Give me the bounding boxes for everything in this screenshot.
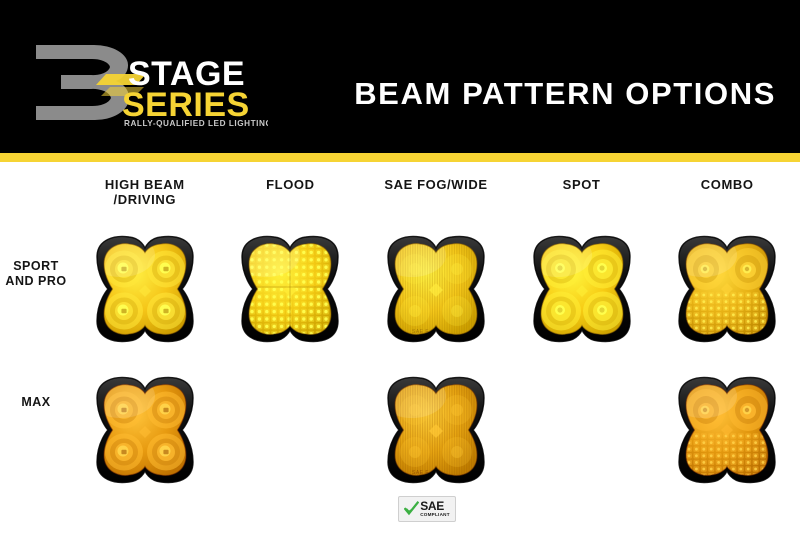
stage-series-logo: STAGE SERIES RALLY-QUALIFIED LED LIGHTIN…	[28, 33, 268, 128]
lens-driving	[91, 229, 199, 349]
column-header-line2: /DRIVING	[72, 192, 218, 207]
column-header-line1: COMBO	[654, 177, 800, 192]
row-label-max: MAX	[0, 395, 72, 410]
lens-cell-max-spot-empty	[509, 361, 655, 498]
lens-cell-max-combo[interactable]	[654, 361, 800, 498]
column-header-line1: FLOOD	[218, 177, 364, 192]
column-header-spot: SPOT	[509, 174, 655, 220]
lens-flood	[236, 229, 344, 349]
lens-grid: SAE F 19	[72, 220, 800, 520]
beam-pattern-options-page: STAGE SERIES RALLY-QUALIFIED LED LIGHTIN…	[0, 0, 800, 533]
lens-combo	[673, 229, 781, 349]
column-header-flood: FLOOD	[218, 174, 364, 220]
lens-spot	[528, 229, 636, 349]
lens-cell-max-high-beam-driving[interactable]	[72, 361, 218, 498]
lens-cell-sport-flood[interactable]	[218, 220, 364, 357]
row-label-line1: SPORT	[13, 259, 59, 273]
lens-sae-fog: SAE F 19	[382, 370, 490, 490]
column-header-row: HIGH BEAM /DRIVING FLOOD SAE FOG/WIDE SP…	[72, 174, 800, 220]
lens-cell-max-sae-fog-wide[interactable]: SAE F 19	[363, 361, 509, 498]
accent-divider-bar	[0, 153, 800, 162]
column-header-sae-fog-wide: SAE FOG/WIDE	[363, 174, 509, 220]
lens-sae-fog: SAE F 19	[382, 229, 490, 349]
lens-combo	[673, 370, 781, 490]
column-header-combo: COMBO	[654, 174, 800, 220]
lens-cell-sport-combo[interactable]	[654, 220, 800, 357]
sae-badge-subtitle: COMPLIANT	[420, 513, 450, 518]
comparison-board: HIGH BEAM /DRIVING FLOOD SAE FOG/WIDE SP…	[0, 162, 800, 533]
column-header-high-beam-driving: HIGH BEAM /DRIVING	[72, 174, 218, 220]
column-header-line1: HIGH BEAM	[72, 177, 218, 192]
lens-row-sport-and-pro: SAE F 19	[72, 220, 800, 357]
row-label-line1: MAX	[21, 395, 50, 409]
green-check-icon	[404, 501, 419, 517]
header-bar: STAGE SERIES RALLY-QUALIFIED LED LIGHTIN…	[0, 0, 800, 153]
page-title: BEAM PATTERN OPTIONS	[354, 76, 776, 112]
lens-cell-sport-spot[interactable]	[509, 220, 655, 357]
row-label-sport-and-pro: SPORT AND PRO	[0, 259, 72, 289]
sae-badge-title: SAE	[420, 500, 444, 512]
sae-compliant-badge: SAE COMPLIANT	[398, 496, 456, 522]
lens-row-max: SAE F 19	[72, 361, 800, 498]
lens-driving	[91, 370, 199, 490]
row-label-column: SPORT AND PRO MAX	[0, 162, 72, 533]
lens-cell-sport-high-beam-driving[interactable]	[72, 220, 218, 357]
lens-cell-sport-sae-fog-wide[interactable]: SAE F 19	[363, 220, 509, 357]
logo-tagline-text: RALLY-QUALIFIED LED LIGHTING	[124, 119, 268, 128]
column-header-line1: SPOT	[509, 177, 655, 192]
lens-cell-max-flood-empty	[218, 361, 364, 498]
column-header-line1: SAE FOG/WIDE	[363, 177, 509, 192]
row-label-line2: AND PRO	[5, 274, 66, 288]
